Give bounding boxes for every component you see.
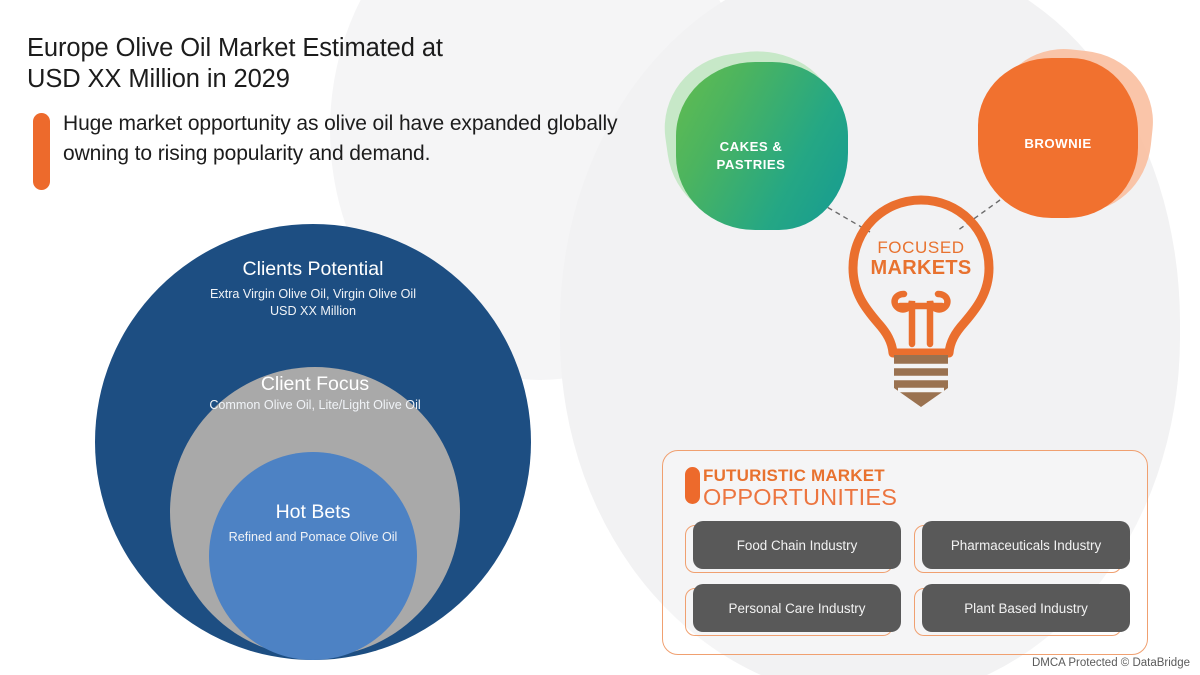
circle-title: Client Focus xyxy=(170,372,460,396)
circle-subtitle-line-1: Extra Virgin Olive Oil, Virgin Olive Oil xyxy=(95,286,531,303)
circle-hot-bets-label: Hot Bets Refined and Pomace Olive Oil xyxy=(209,500,417,546)
subtitle-block: Huge market opportunity as olive oil hav… xyxy=(27,109,647,168)
opportunity-card-pharmaceuticals[interactable]: Pharmaceuticals Industry xyxy=(914,521,1127,573)
panel-heading-line-1: FUTURISTIC MARKET xyxy=(689,467,1147,485)
bulb-label-line-2: MARKETS xyxy=(842,257,1000,279)
circle-clients-potential-label: Clients Potential Extra Virgin Olive Oil… xyxy=(95,257,531,319)
headline-block: Europe Olive Oil Market Estimated at USD… xyxy=(27,33,647,168)
blob-cakes-pastries-label: CAKES & PASTRIES xyxy=(654,138,848,174)
card-label: Pharmaceuticals Industry xyxy=(922,521,1130,569)
opportunity-card-plant-based[interactable]: Plant Based Industry xyxy=(914,584,1127,636)
page-title: Europe Olive Oil Market Estimated at USD… xyxy=(27,33,647,95)
page-title-line-1: Europe Olive Oil Market Estimated at xyxy=(27,34,443,62)
opportunity-card-grid: Food Chain Industry Pharmaceuticals Indu… xyxy=(685,521,1127,636)
blob-cakes-pastries: CAKES & PASTRIES xyxy=(676,62,848,230)
card-label: Personal Care Industry xyxy=(693,584,901,632)
circle-title: Clients Potential xyxy=(95,257,531,281)
lightbulb-icon: FOCUSED MARKETS xyxy=(842,192,1000,422)
panel-heading-line-2: OPPORTUNITIES xyxy=(689,485,1147,510)
page-subtitle: Huge market opportunity as olive oil hav… xyxy=(63,109,647,168)
card-label: Plant Based Industry xyxy=(922,584,1130,632)
opportunity-card-personal-care[interactable]: Personal Care Industry xyxy=(685,584,898,636)
panel-header: FUTURISTIC MARKET OPPORTUNITIES xyxy=(663,451,1147,513)
blob-label-line-1: CAKES & xyxy=(654,138,848,156)
bulb-base xyxy=(894,355,948,407)
circle-hot-bets: Hot Bets Refined and Pomace Olive Oil xyxy=(209,452,417,660)
copyright-notice: DMCA Protected © DataBridge xyxy=(1032,657,1190,669)
infographic-canvas: Europe Olive Oil Market Estimated at USD… xyxy=(0,0,1200,675)
opportunity-card-food-chain[interactable]: Food Chain Industry xyxy=(685,521,898,573)
panel-accent-pill-icon xyxy=(685,467,700,504)
blob-brownie: BROWNIE xyxy=(978,58,1138,218)
circle-subtitle-line-1: Refined and Pomace Olive Oil xyxy=(209,529,417,546)
blob-label-line-2: PASTRIES xyxy=(654,156,848,174)
page-title-line-2: USD XX Million in 2029 xyxy=(27,65,290,93)
circle-subtitle-line-1: Common Olive Oil, Lite/Light Olive Oil xyxy=(170,397,460,414)
accent-pill-icon xyxy=(33,113,50,190)
circle-subtitle-line-2: USD XX Million xyxy=(95,303,531,320)
bulb-filament xyxy=(895,294,948,344)
card-label: Food Chain Industry xyxy=(693,521,901,569)
circle-title: Hot Bets xyxy=(209,500,417,524)
blob-brownie-label: BROWNIE xyxy=(978,135,1138,153)
circle-client-focus-label: Client Focus Common Olive Oil, Lite/Ligh… xyxy=(170,372,460,414)
bulb-label-line-1: FOCUSED xyxy=(842,238,1000,257)
bulb-label: FOCUSED MARKETS xyxy=(842,238,1000,279)
futuristic-opportunities-panel: FUTURISTIC MARKET OPPORTUNITIES Food Cha… xyxy=(662,450,1148,655)
lightbulb-svg xyxy=(842,192,1000,417)
blob-label-line-1: BROWNIE xyxy=(978,135,1138,153)
